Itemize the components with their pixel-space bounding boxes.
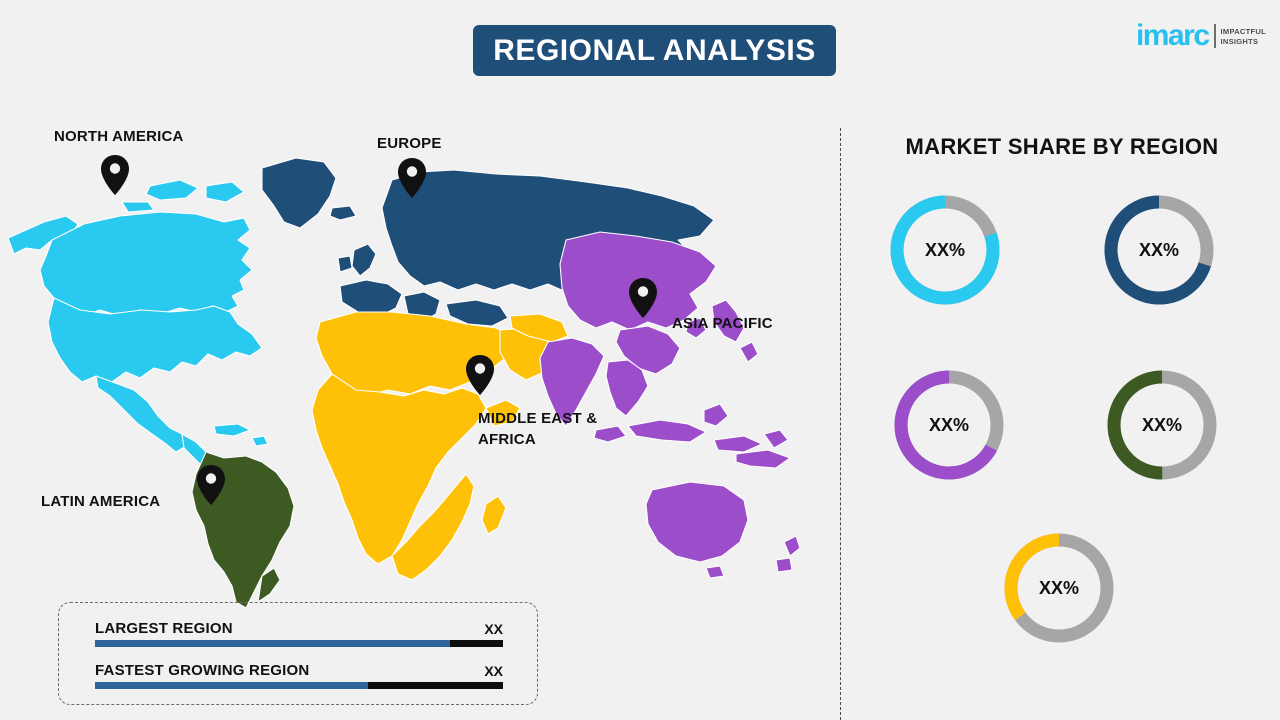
legend-bar-track-fastest-growing-region (95, 682, 503, 689)
legend-label-fastest-growing-region: FASTEST GROWING REGION (95, 662, 309, 679)
logo-tagline-line2: INSIGHTS (1221, 37, 1266, 47)
donut-chart-asia-pacific: XX% (890, 366, 1008, 484)
donut-value-north-america: XX% (886, 191, 1004, 309)
map-label-europe: EUROPE (377, 133, 442, 154)
donut-value-middle-east-africa: XX% (1000, 529, 1118, 647)
map-region-north-america (8, 180, 268, 468)
map-pin-asia-pacific-icon (628, 278, 658, 318)
map-pin-middle-east-africa-icon (465, 355, 495, 395)
legend-row-fastest-growing-region: FASTEST GROWING REGION XX (95, 662, 503, 689)
logo-divider (1214, 24, 1216, 48)
donut-value-asia-pacific: XX% (890, 366, 1008, 484)
page-title-banner: REGIONAL ANALYSIS (473, 25, 836, 76)
legend-row-largest-region: LARGEST REGION XX (95, 620, 503, 647)
legend-value-largest-region: XX (484, 621, 503, 637)
donut-value-europe: XX% (1100, 191, 1218, 309)
map-label-latin-america: LATIN AMERICA (41, 491, 160, 512)
map-label-north-america: NORTH AMERICA (54, 126, 184, 147)
legend-label-largest-region: LARGEST REGION (95, 620, 233, 637)
logo-tagline: IMPACTFUL INSIGHTS (1221, 27, 1266, 50)
region-summary-box: LARGEST REGION XX FASTEST GROWING REGION… (58, 602, 538, 705)
map-pin-latin-america-icon (196, 465, 226, 505)
donut-chart-north-america: XX% (886, 191, 1004, 309)
legend-bar-track-largest-region (95, 640, 503, 647)
donut-chart-middle-east-africa: XX% (1000, 529, 1118, 647)
map-pin-europe-icon (397, 158, 427, 198)
logo-tagline-line1: IMPACTFUL (1221, 27, 1266, 37)
panel-divider (840, 128, 841, 720)
legend-bar-fill-fastest-growing-region (95, 682, 368, 689)
logo-wordmark: imarc (1136, 22, 1209, 50)
map-label-asia-pacific: ASIA PACIFIC (672, 313, 773, 334)
page-title: REGIONAL ANALYSIS (493, 34, 815, 68)
legend-bar-fill-largest-region (95, 640, 450, 647)
map-pin-north-america-icon (100, 155, 130, 195)
map-label-middle-east-africa: MIDDLE EAST & AFRICA (478, 408, 597, 450)
legend-value-fastest-growing-region: XX (484, 663, 503, 679)
imarc-logo: imarc IMPACTFUL INSIGHTS (1136, 22, 1266, 50)
donut-value-latin-america: XX% (1103, 366, 1221, 484)
infographic-canvas: REGIONAL ANALYSIS imarc IMPACTFUL INSIGH… (0, 0, 1280, 720)
map-region-asia-pacific (540, 232, 800, 578)
donut-chart-latin-america: XX% (1103, 366, 1221, 484)
donut-chart-europe: XX% (1100, 191, 1218, 309)
market-share-title: MARKET SHARE BY REGION (890, 134, 1234, 160)
